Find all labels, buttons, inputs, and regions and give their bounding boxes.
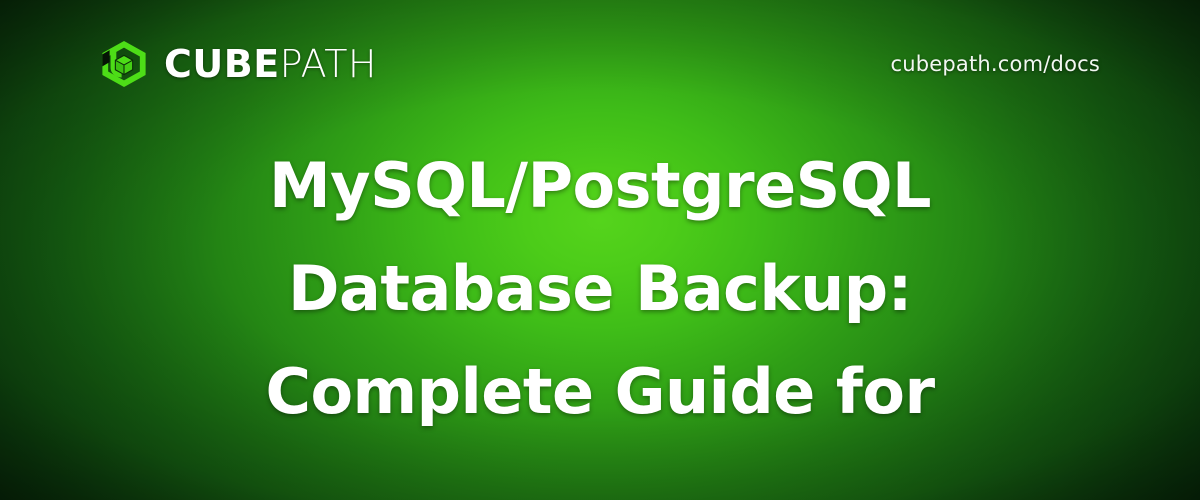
- brand-wordmark-light: PATH: [280, 42, 377, 86]
- brand-wordmark: CUBEPATH: [164, 45, 377, 83]
- banner-header: CUBEPATH cubepath.com/docs: [0, 0, 1200, 128]
- page-title: MySQL/PostgreSQL Database Backup: Comple…: [0, 128, 1200, 500]
- brand-wordmark-bold: CUBE: [164, 42, 280, 86]
- site-url-label: cubepath.com/docs: [890, 52, 1100, 76]
- docs-hero-banner: CUBEPATH cubepath.com/docs MySQL/Postgre…: [0, 0, 1200, 500]
- title-line-1: MySQL/PostgreSQL: [269, 134, 931, 237]
- title-line-3: Complete Guide for: [265, 340, 934, 443]
- brand-logo[interactable]: CUBEPATH: [100, 40, 377, 88]
- banner-content: CUBEPATH cubepath.com/docs MySQL/Postgre…: [0, 0, 1200, 500]
- title-line-2: Database Backup:: [288, 237, 912, 340]
- cubepath-hexagon-cube-logo-icon: [100, 40, 148, 88]
